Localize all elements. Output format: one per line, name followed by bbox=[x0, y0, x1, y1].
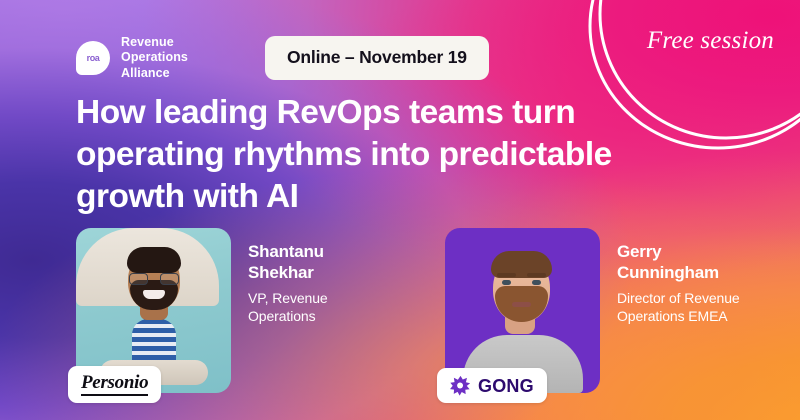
glasses-lens-right bbox=[160, 273, 179, 285]
speaker-role: Director of Revenue Operations EMEA bbox=[617, 290, 752, 326]
speaker-photo-wrap: Personio bbox=[76, 228, 231, 393]
speaker-name: Gerry Cunningham bbox=[617, 242, 752, 283]
portrait-mouth bbox=[512, 302, 531, 307]
speaker-name: Shantanu Shekhar bbox=[248, 242, 383, 283]
glasses-lens-left bbox=[129, 273, 148, 285]
speaker-info: Gerry Cunningham Director of Revenue Ope… bbox=[617, 228, 752, 326]
gong-starburst-icon bbox=[450, 375, 471, 396]
portrait-brow-right bbox=[527, 273, 546, 277]
speaker-info: Shantanu Shekhar VP, Revenue Operations bbox=[248, 228, 383, 326]
roa-logo-text: roa bbox=[87, 54, 100, 63]
brand-name: Revenue Operations Alliance bbox=[121, 35, 239, 81]
portrait-eye-left bbox=[502, 280, 511, 285]
speaker-role: VP, Revenue Operations bbox=[248, 290, 383, 326]
portrait-hair bbox=[127, 247, 181, 273]
gong-wordmark: GONG bbox=[478, 377, 534, 395]
speaker-card: Personio Shantanu Shekhar VP, Revenue Op… bbox=[76, 228, 383, 393]
portrait-brow-left bbox=[497, 273, 516, 277]
speaker-card: GONG Gerry Cunningham Director of Revenu… bbox=[445, 228, 752, 393]
portrait-eye-right bbox=[532, 280, 541, 285]
portrait-glasses-icon bbox=[129, 273, 179, 285]
portrait-smile bbox=[143, 290, 165, 299]
speaker-photo-wrap: GONG bbox=[445, 228, 600, 393]
event-date-pill: Online – November 19 bbox=[265, 36, 489, 80]
company-logo-badge: GONG bbox=[437, 368, 547, 403]
brand-lockup: roa Revenue Operations Alliance bbox=[76, 35, 239, 81]
webinar-promo-banner: roa Revenue Operations Alliance Online –… bbox=[0, 0, 800, 420]
page-title: How leading RevOps teams turn operating … bbox=[76, 92, 661, 219]
free-session-badge: Free session bbox=[647, 27, 774, 55]
personio-wordmark-icon: Personio bbox=[81, 373, 148, 396]
speakers-list: Personio Shantanu Shekhar VP, Revenue Op… bbox=[76, 228, 770, 393]
roa-logo-icon: roa bbox=[76, 41, 110, 75]
company-logo-badge: Personio bbox=[68, 366, 161, 403]
